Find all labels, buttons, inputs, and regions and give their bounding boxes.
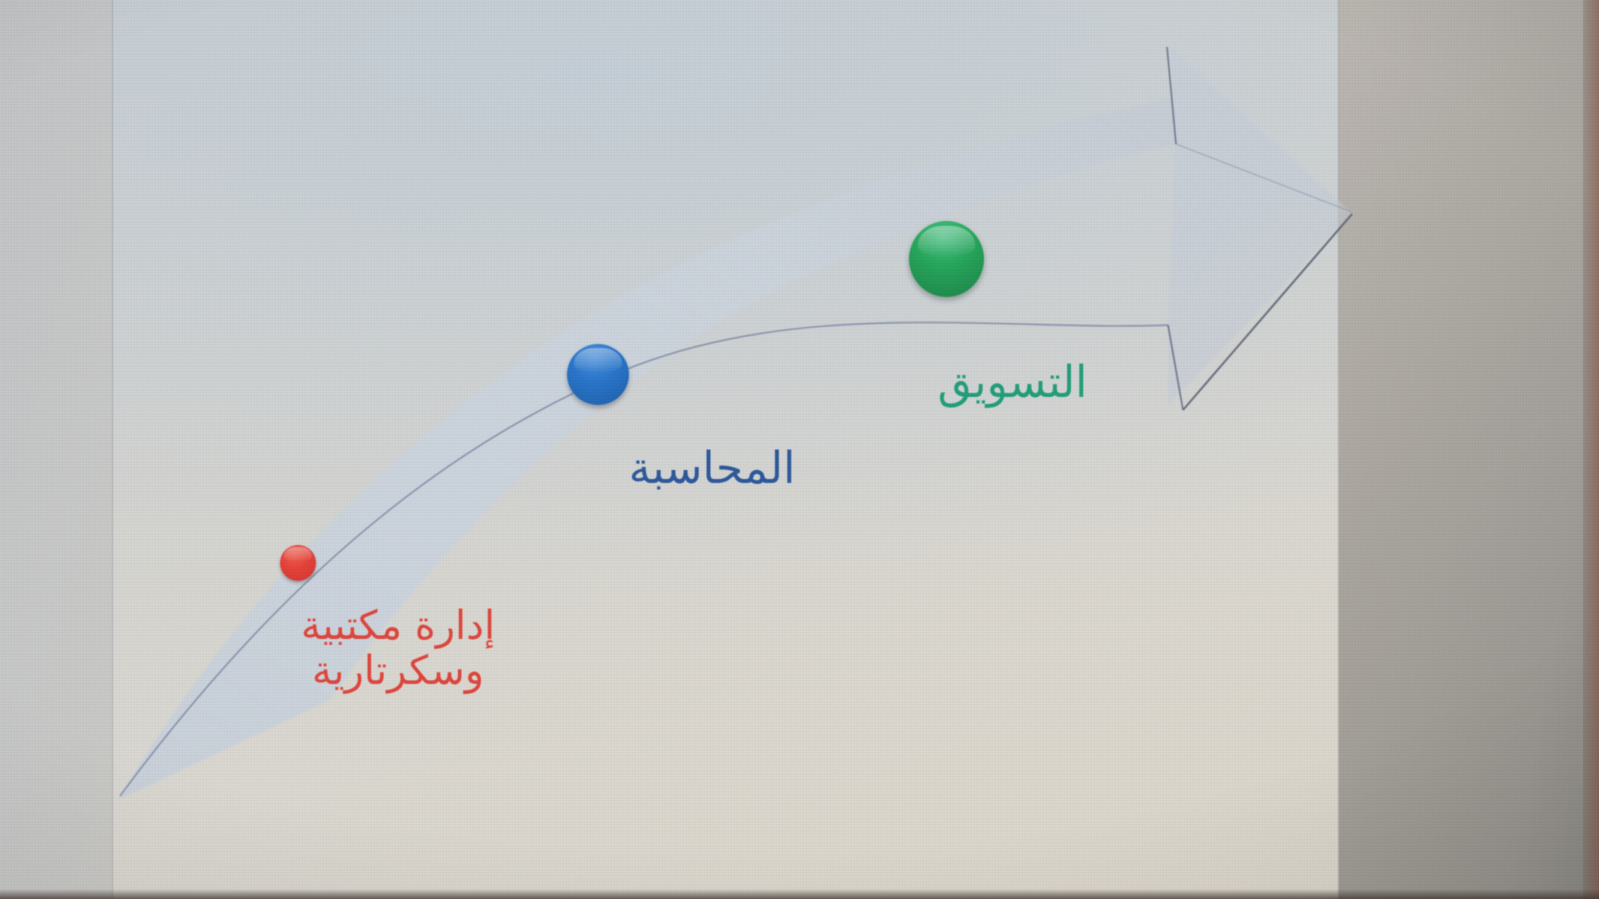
step-label-office-administration: إدارة مكتبية وسكرتارية (268, 604, 528, 694)
dot-highlight (574, 348, 621, 374)
step-label-marketing: التسويق (905, 358, 1120, 407)
step-marker-green[interactable] (909, 221, 984, 297)
arrow-head (1168, 48, 1352, 406)
dot-highlight (284, 547, 311, 562)
step-marker-blue[interactable] (567, 344, 629, 405)
step-marker-red[interactable] (280, 545, 316, 581)
step-label-accounting: المحاسبة (592, 444, 832, 493)
photographed-screen: إدارة مكتبية وسكرتارية المحاسبة التسويق (0, 0, 1599, 899)
dot-highlight (918, 226, 975, 258)
photo-bottom-shadow (0, 889, 1599, 899)
